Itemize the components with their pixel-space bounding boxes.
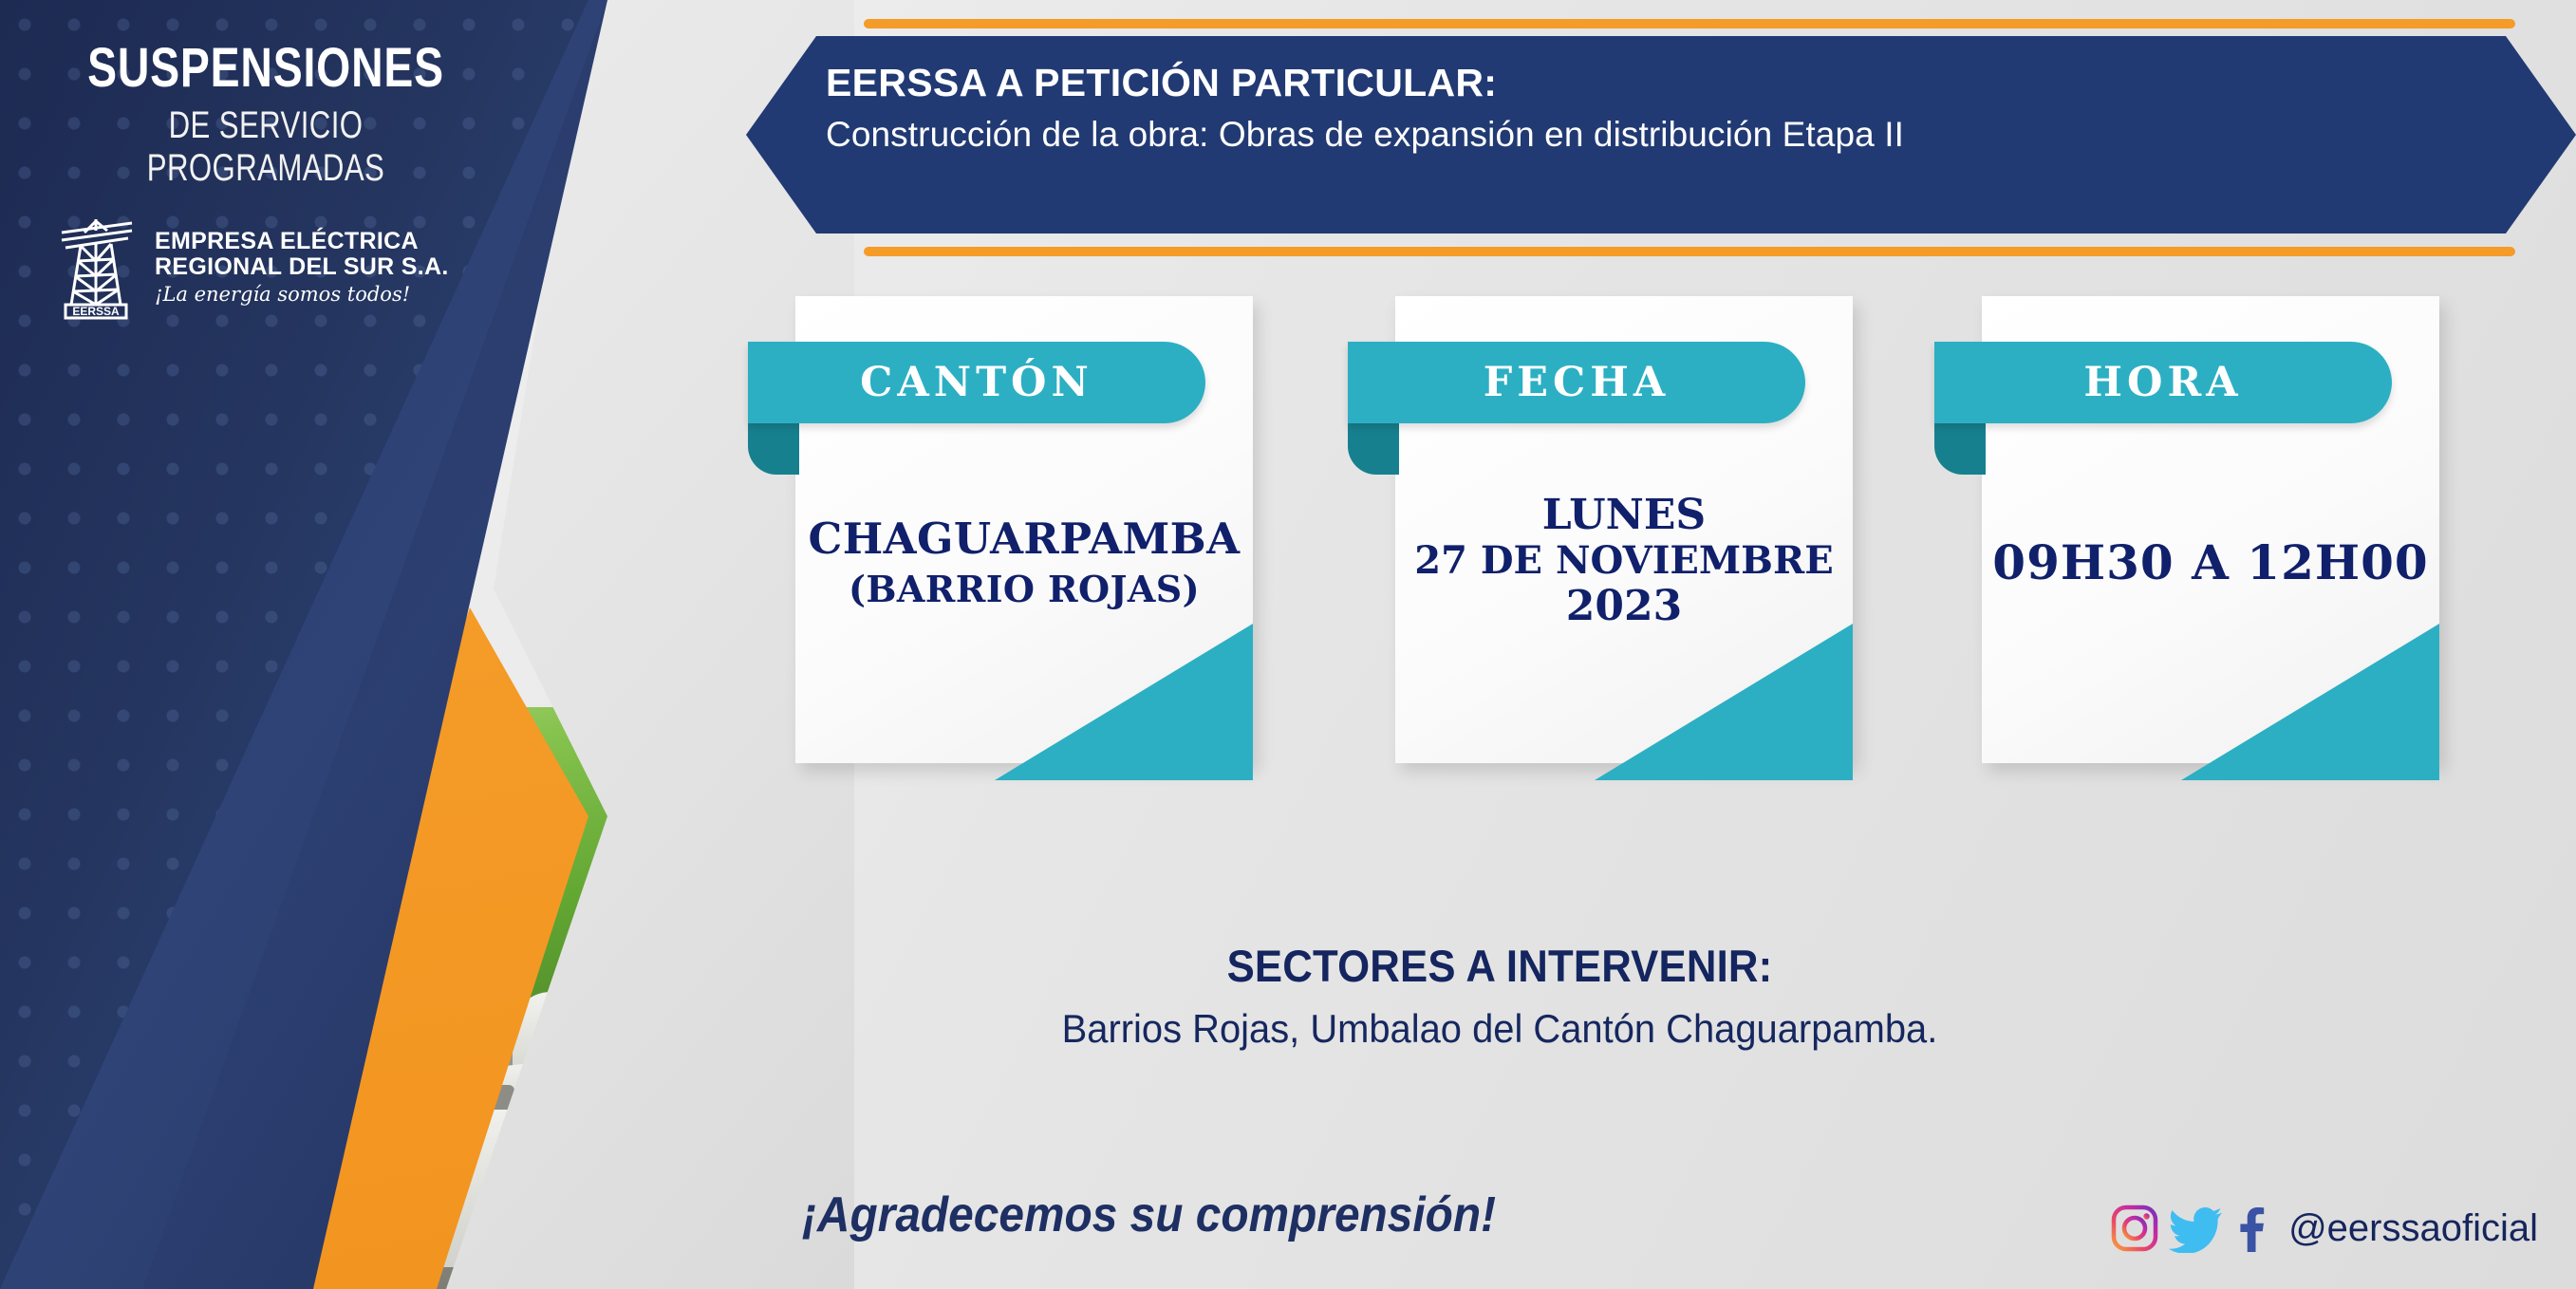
logo-mark-text: EERSSA [72,305,120,318]
social-media-block: @eerssaoficial [2110,1204,2538,1253]
sectors-body: Barrios Rojas, Umbalao del Cantón Chagua… [824,1006,2176,1052]
facebook-icon[interactable] [2233,1204,2268,1253]
twitter-icon[interactable] [2169,1204,2224,1253]
ribbon-fold [1348,420,1399,475]
fecha-label: FECHA [1484,359,1671,406]
canton-label-ribbon: CANTÓN [748,342,1205,423]
instagram-icon[interactable] [2110,1204,2159,1253]
canton-label: CANTÓN [860,359,1093,406]
hora-label: HORA [2083,359,2242,406]
canton-value-line-2: (BARRIO ROJAS) [809,568,1241,610]
banner-subtitle: Construcción de la obra: Obras de expans… [826,112,2439,158]
ribbon-fold [748,420,799,475]
header-banner-text: EERSSA A PETICIÓN PARTICULAR: Construcci… [826,59,2439,158]
logo-line-2: REGIONAL DEL SUR S.A. [155,254,449,280]
banner-top-rule [864,19,2515,28]
transmission-tower-icon: EERSSA [52,214,140,320]
hora-label-ribbon: HORA [1934,342,2392,423]
logo-line-1: EMPRESA ELÉCTRICA [155,229,449,254]
ribbon-fold [1934,420,1986,475]
logo-slogan: ¡La energía somos todos! [155,284,449,306]
poster-title: SUSPENSIONES [53,36,478,100]
thanks-message: ¡Agradecemos su comprensión! [802,1186,1496,1243]
ribbon-pill: CANTÓN [748,342,1205,423]
fecha-value-line-1: LUNES [1414,492,1833,539]
hora-value-line-1: 09H30 A 12H00 [1992,534,2428,590]
sectors-title: SECTORES A INTERVENIR: [838,940,2162,992]
fecha-label-ribbon: FECHA [1348,342,1805,423]
suspension-notice-poster: SUSPENSIONES DE SERVICIO PROGRAMADAS [0,0,2576,1289]
banner-bottom-rule [864,247,2515,256]
fecha-value-line-2: 27 DE NOVIEMBRE [1414,539,1833,583]
eerssa-logo: EERSSA EMPRESA ELÉCTRICA REGIONAL DEL SU… [52,214,449,320]
poster-subtitle: DE SERVICIO PROGRAMADAS [59,104,474,190]
ribbon-pill: HORA [1934,342,2392,423]
left-panel: SUSPENSIONES DE SERVICIO PROGRAMADAS [0,0,854,1289]
social-handle[interactable]: @eerssaoficial [2288,1207,2538,1250]
banner-title: EERSSA A PETICIÓN PARTICULAR: [826,59,2439,106]
fecha-value-line-3: 2023 [1414,582,1833,632]
ribbon-pill: FECHA [1348,342,1805,423]
canton-value-line-1: CHAGUARPAMBA [809,514,1241,564]
